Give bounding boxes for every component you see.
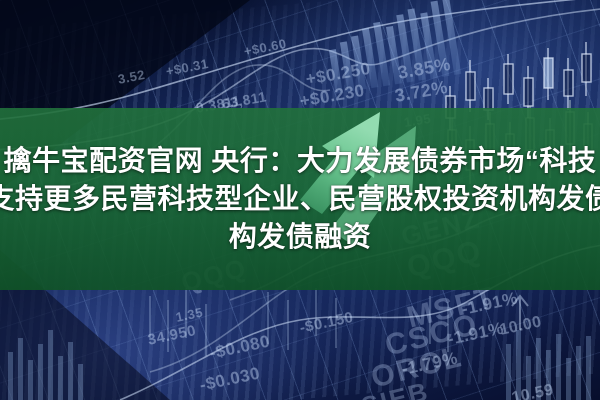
headline-block: 擒牛宝配资官网 央行：大力发展债券市场“科技 ，支持更多民营科技型企业、民营股权…: [0, 108, 600, 290]
headline-line-1: 擒牛宝配资官网 央行：大力发展债券市场“科技: [4, 142, 597, 180]
headline-line-3: 构发债融资: [229, 218, 372, 256]
headline-line-2: ，支持更多民营科技型企业、民营股权投资机构发债融: [0, 180, 600, 218]
news-banner: +$0.2503.85%+$0.2303.72%63,8110.3811+$0.…: [0, 0, 600, 400]
